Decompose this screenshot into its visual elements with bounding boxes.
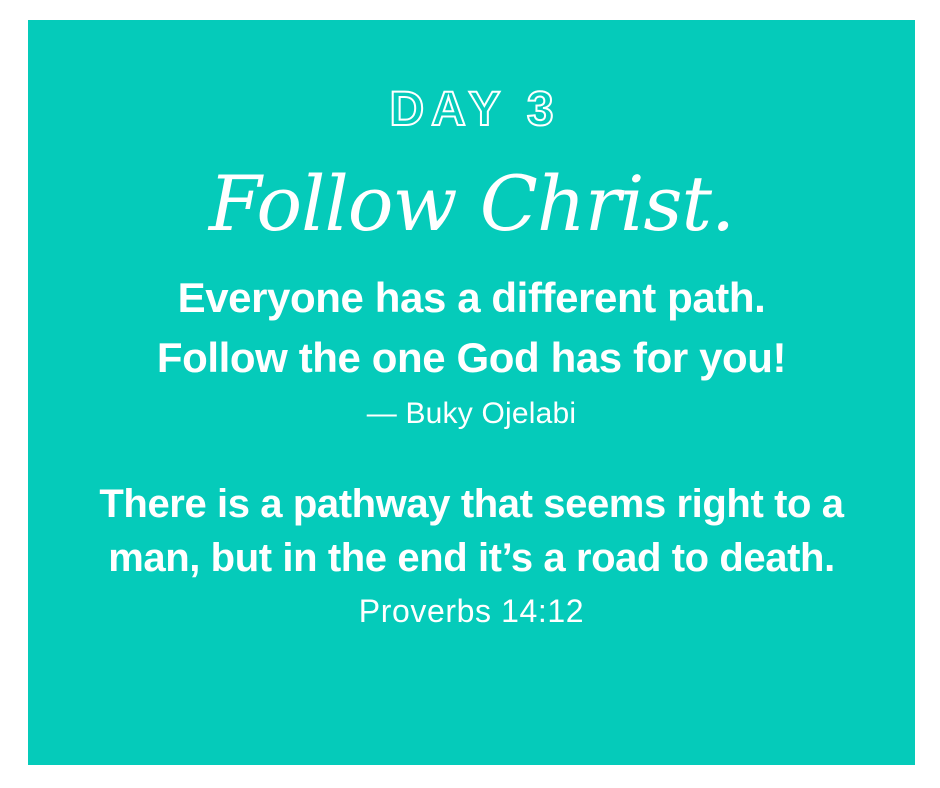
quote-line-1: Everyone has a different path. <box>28 268 915 328</box>
devotional-graphic: DAY 3 Follow Christ. Everyone has a diff… <box>0 0 940 788</box>
day-label: DAY 3 <box>382 86 560 134</box>
scripture-reference: Proverbs 14:12 <box>92 595 852 627</box>
scripture-text: There is a pathway that seems right to a… <box>92 477 852 585</box>
quote-block: Everyone has a different path. Follow th… <box>28 268 915 387</box>
quote-line-2: Follow the one God has for you! <box>28 328 915 388</box>
scripture-block: There is a pathway that seems right to a… <box>92 477 852 627</box>
quote-attribution: — Buky Ojelabi <box>367 399 577 429</box>
page-title: Follow Christ. <box>209 166 734 242</box>
teal-card-panel: DAY 3 Follow Christ. Everyone has a diff… <box>28 20 915 765</box>
